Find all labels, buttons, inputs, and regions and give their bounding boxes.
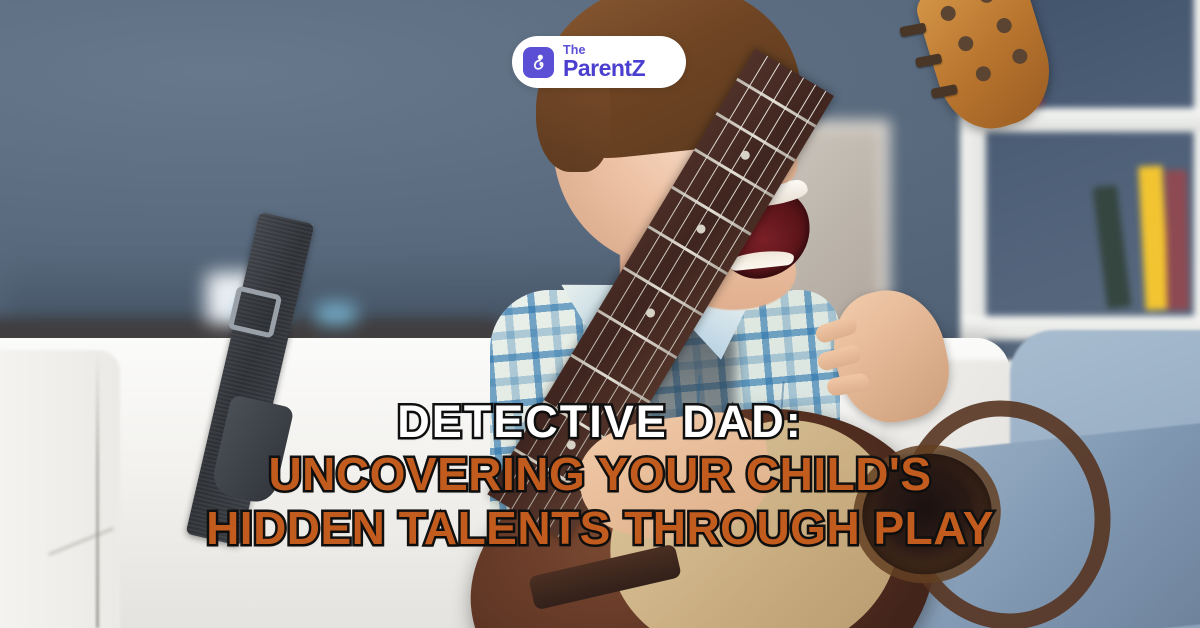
headline-line-1: DETECTIVE DAD: — [0, 398, 1200, 446]
parent-and-baby-icon — [523, 47, 554, 78]
brand-logo-name: ParentZ — [563, 57, 645, 80]
headline-line-2: UNCOVERING YOUR CHILD'S — [0, 450, 1200, 499]
headline-block: DETECTIVE DAD: UNCOVERING YOUR CHILD'S H… — [0, 398, 1200, 553]
social-share-banner: The ParentZ DETECTIVE DAD: UNCOVERING YO… — [0, 0, 1200, 628]
guitar-headstock — [913, 0, 1064, 141]
brand-logo[interactable]: The ParentZ — [512, 36, 686, 88]
headline-line-3: HIDDEN TALENTS THROUGH PLAY — [0, 504, 1200, 553]
brand-logo-text: The ParentZ — [563, 44, 645, 81]
